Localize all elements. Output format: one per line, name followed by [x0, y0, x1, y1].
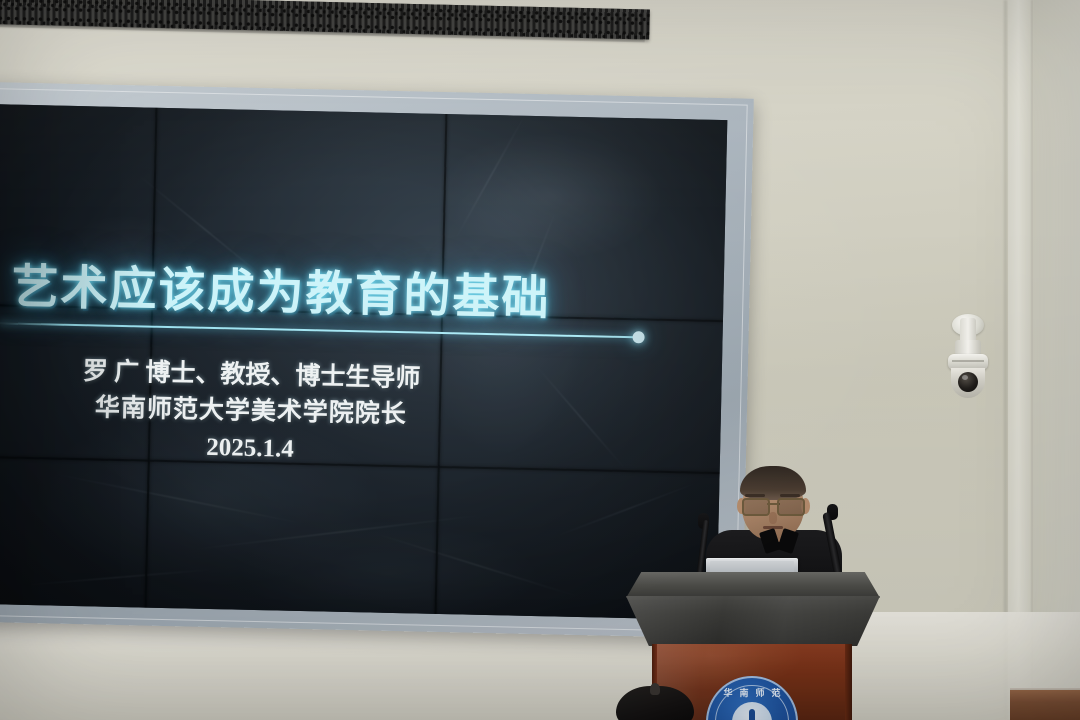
slide-subtitle-block: 罗 广 博士、教授、博士生导师 华南师范大学美术学院院长 2025.1.4 [0, 352, 512, 472]
slide-title: 艺术应该成为教育的基础 [11, 263, 612, 323]
speaker-brow-left [745, 494, 765, 497]
slide-title-underline-dot [632, 331, 644, 343]
lecture-hall-scene: 艺术应该成为教育的基础 罗 广 博士、教授、博士生导师 华南师范大学美术学院院长… [0, 0, 1080, 720]
glasses-lens-left [742, 498, 770, 516]
podium-desktop [626, 572, 880, 598]
slide-content: 艺术应该成为教育的基础 罗 广 博士、教授、博士生导师 华南师范大学美术学院院长… [0, 104, 727, 620]
camera-lens-icon [958, 372, 978, 392]
side-desk [1010, 690, 1080, 720]
slide-title-underline [0, 322, 639, 338]
speaker-brow-right [780, 494, 800, 497]
podium-panel-sheen [626, 596, 880, 646]
glasses-lens-right [777, 498, 805, 516]
video-wall-display[interactable]: 艺术应该成为教育的基础 罗 广 博士、教授、博士生导师 华南师范大学美术学院院长… [0, 104, 727, 620]
podium-edge-right [845, 644, 852, 720]
camera-dome [951, 368, 985, 398]
podium-front-panel [626, 596, 880, 646]
speaker-nose [769, 512, 777, 524]
ptz-dome-camera-icon [946, 318, 990, 408]
video-wall-frame: 艺术应该成为教育的基础 罗 广 博士、教授、博士生导师 华南师范大学美术学院院长… [0, 82, 754, 639]
emblem-rim-text: 华南师范 [706, 686, 798, 699]
glasses-icon [742, 498, 805, 513]
